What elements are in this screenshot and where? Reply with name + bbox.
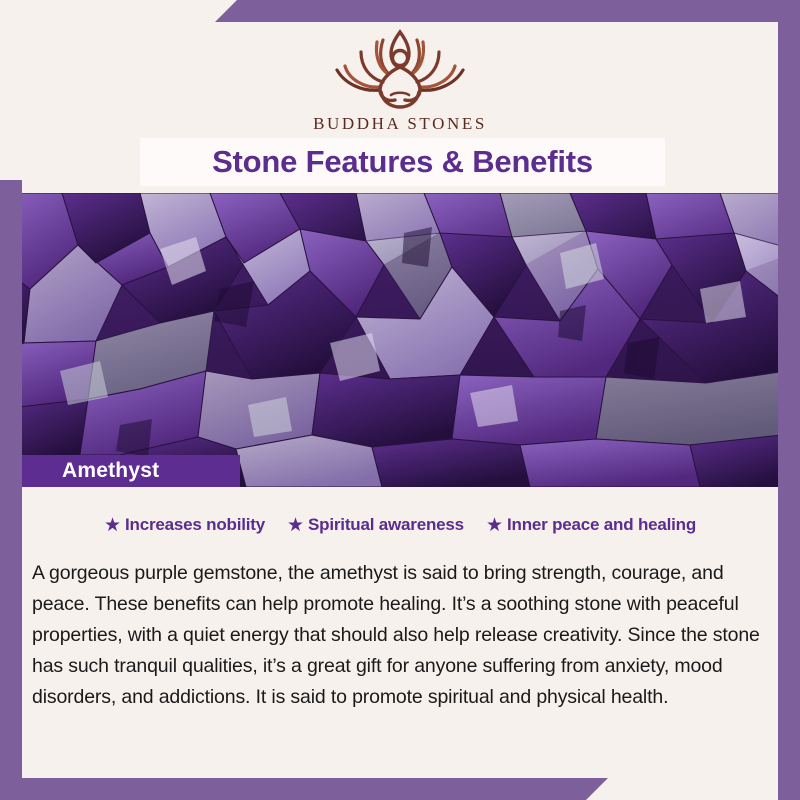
lotus-meditation-figure-icon: [325, 22, 475, 110]
brand-logo: BUDDHA STONES: [0, 22, 800, 134]
header-section: BUDDHA STONES Stone Features & Benefits: [0, 0, 800, 193]
benefit-label: Increases nobility: [125, 515, 265, 535]
star-icon: ★: [287, 516, 304, 535]
benefit-item: ★ Inner peace and healing: [486, 515, 696, 535]
amethyst-crystal-illustration: [0, 193, 800, 487]
stone-description: A gorgeous purple gemstone, the amethyst…: [32, 558, 774, 713]
benefit-item: ★ Increases nobility: [104, 515, 265, 535]
infographic-page: BUDDHA STONES Stone Features & Benefits: [0, 0, 800, 800]
star-icon: ★: [486, 516, 503, 535]
benefit-item: ★ Spiritual awareness: [287, 515, 464, 535]
stone-name-badge: Amethyst: [0, 455, 240, 487]
amethyst-photo: [0, 193, 800, 487]
benefit-label: Inner peace and healing: [507, 515, 696, 535]
benefit-label: Spiritual awareness: [308, 515, 464, 535]
title-panel: Stone Features & Benefits: [140, 138, 665, 186]
frame-band-bottom: [0, 778, 608, 800]
star-icon: ★: [104, 516, 121, 535]
stone-name: Amethyst: [0, 459, 159, 483]
brand-name: BUDDHA STONES: [0, 114, 800, 134]
page-title: Stone Features & Benefits: [212, 144, 593, 180]
benefits-list: ★ Increases nobility ★ Spiritual awarene…: [0, 515, 800, 535]
